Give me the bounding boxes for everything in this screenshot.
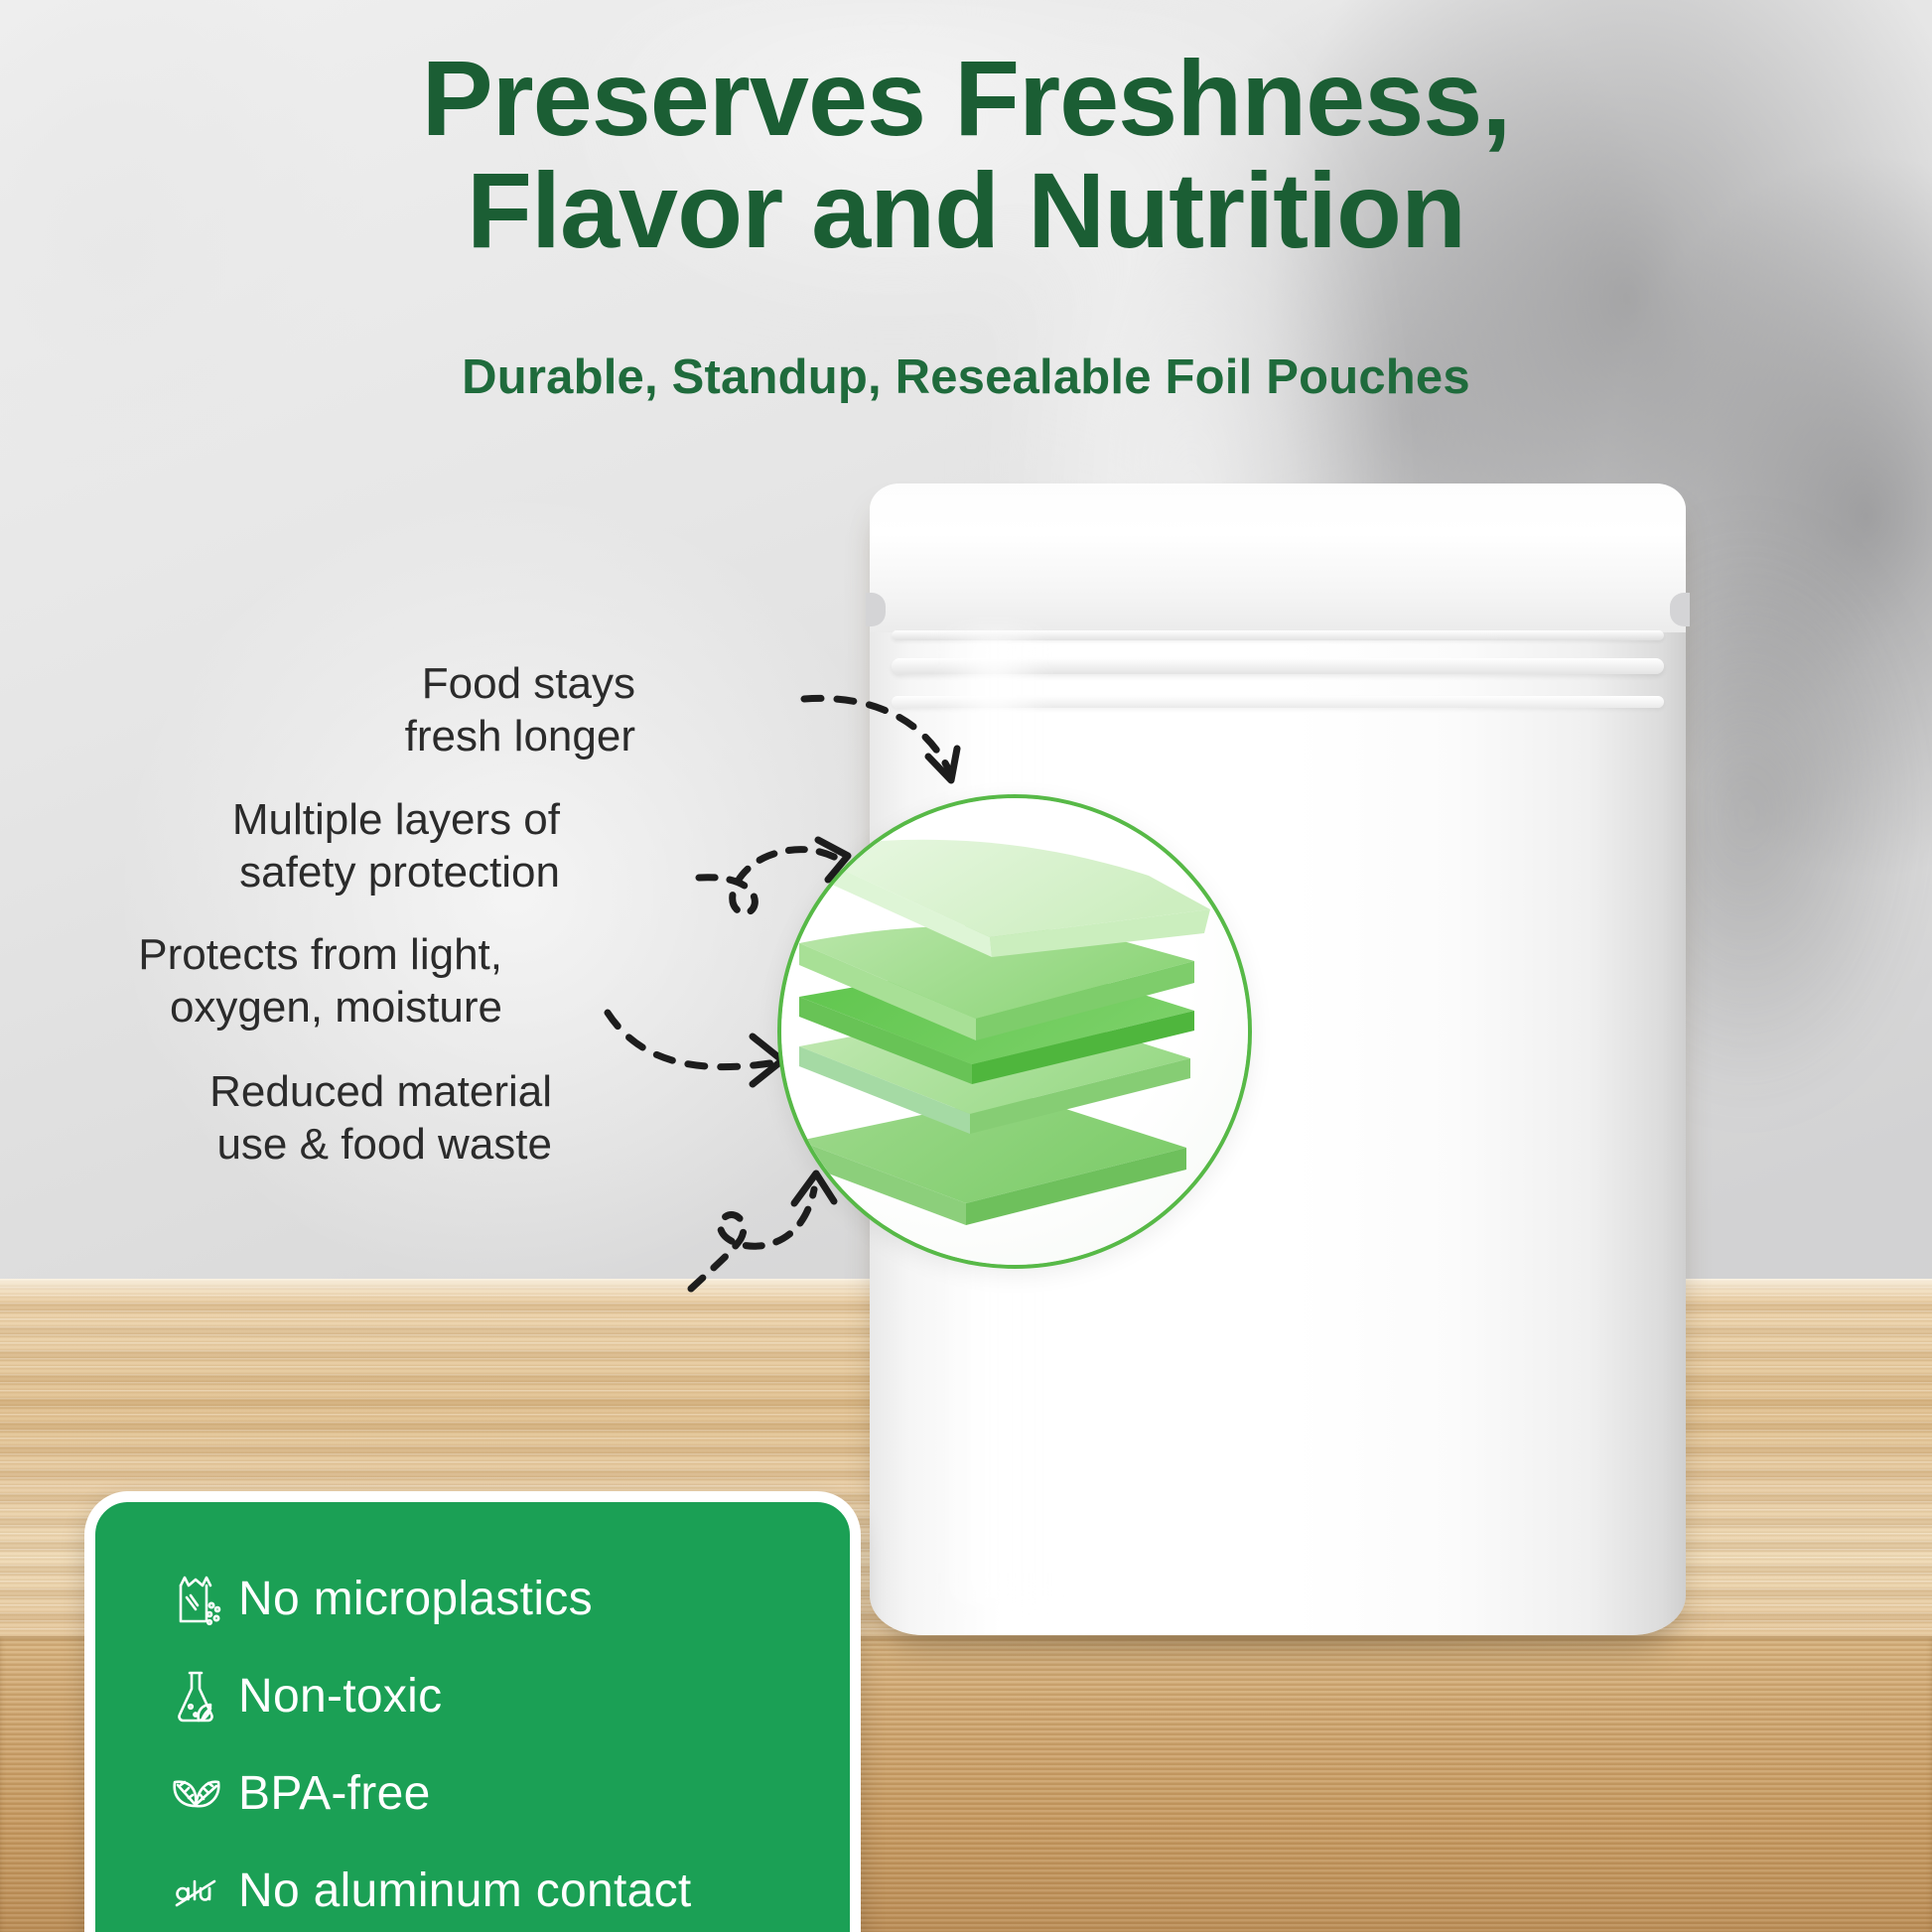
tear-notch-right-icon (1670, 593, 1690, 626)
callout-line-1: Protects from light, (138, 929, 502, 982)
list-item: BPA-free (153, 1744, 830, 1842)
pouch-top-panel (870, 483, 1686, 632)
callout-reduced-material: Reduced material use & food waste (209, 1066, 552, 1172)
badge-item-label: No microplastics (238, 1572, 593, 1626)
callout-line-2: oxygen, moisture (138, 982, 502, 1035)
headline-line-2: Flavor and Nutrition (0, 154, 1932, 266)
flask-leaf-icon (153, 1665, 238, 1726)
callout-protects-from-light: Protects from light, oxygen, moisture (138, 929, 502, 1035)
callout-line-1: Food stays (405, 658, 635, 711)
callout-line-1: Multiple layers of (232, 794, 560, 847)
dashed-curve-arrow-icon (800, 685, 999, 814)
plastic-bag-microplastics-icon (153, 1568, 238, 1629)
two-leaves-icon (153, 1762, 238, 1824)
callout-line-2: use & food waste (209, 1119, 552, 1172)
list-item: Non-toxic (153, 1647, 830, 1744)
alu-crossed-out-icon (153, 1860, 238, 1921)
stacked-layers-icon (777, 794, 1252, 1269)
callout-line-2: fresh longer (405, 711, 635, 763)
callout-multiple-layers: Multiple layers of safety protection (232, 794, 560, 899)
list-item: No aluminum contact (153, 1842, 830, 1932)
headline-line-1: Preserves Freshness, (422, 38, 1511, 158)
eco-claims-badge: No microplastics Non-toxic (84, 1491, 861, 1932)
callout-line-1: Reduced material (209, 1066, 552, 1119)
callout-food-stays-fresh: Food stays fresh longer (405, 658, 635, 763)
infographic-canvas: Preserves Freshness, Flavor and Nutritio… (0, 0, 1932, 1932)
list-item: No microplastics (153, 1550, 830, 1647)
badge-item-label: Non-toxic (238, 1669, 442, 1724)
badge-item-label: BPA-free (238, 1766, 431, 1821)
eco-claims-list: No microplastics Non-toxic (153, 1550, 830, 1932)
callout-line-2: safety protection (232, 847, 560, 899)
page-subtitle: Durable, Standup, Resealable Foil Pouche… (0, 349, 1932, 405)
badge-item-label: No aluminum contact (238, 1863, 692, 1918)
layer-stack-illustration (781, 798, 1248, 1265)
page-title: Preserves Freshness, Flavor and Nutritio… (0, 42, 1932, 267)
